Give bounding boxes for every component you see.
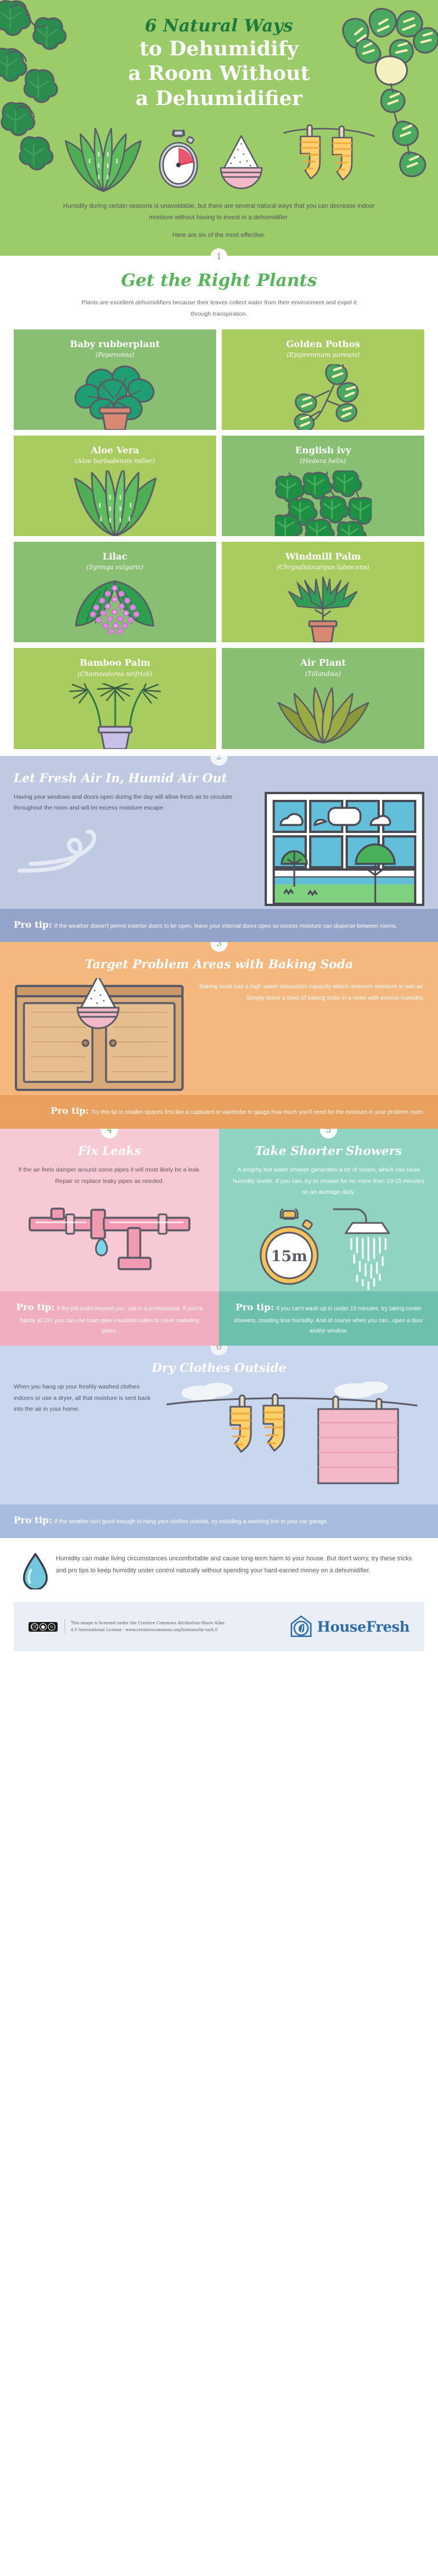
washing-line-illustration	[167, 1382, 424, 1504]
plant-sci-name: (Aloe barbadensis miller)	[18, 457, 212, 465]
plant-sci-name: (Hedera helix)	[226, 457, 420, 465]
hero-section: 6 Natural Ways to Dehumidify a Room With…	[0, 0, 438, 256]
pothos-vine-art	[222, 364, 424, 430]
plant-label: English ivy (Hedera helix)	[222, 436, 424, 470]
hero-intro: Humidity during certain seasons is unavo…	[0, 192, 438, 243]
section4-body: If the air feels damper around some pipe…	[11, 1165, 208, 1187]
section-fix-leaks: 4 Fix Leaks If the air feels damper arou…	[0, 1129, 219, 1346]
license-line-2: 4.0 International License - www.creative…	[71, 1627, 225, 1633]
plant-label: Golden Pothos (Epipremnum aureum)	[222, 329, 424, 364]
plant-label: Lilac (Syringa vulgaris)	[14, 542, 216, 577]
step-badge-1: 1	[210, 248, 228, 265]
section2-heading: Let Fresh Air In, Humid Air Out	[14, 771, 424, 785]
section5-body: A lengthy hot water shower generates a l…	[230, 1165, 427, 1198]
plant-card[interactable]: Bamboo Palm (Chamaedorea seifrizii)	[14, 648, 216, 748]
hero-title-line4: a Dehumidifier	[0, 87, 438, 110]
peperomia-plant-art	[14, 364, 216, 430]
hero-intro-paragraph-2: Here are six of the most effective.	[52, 230, 386, 241]
section6-protip: Pro tip:If the weather isn't good enough…	[0, 1504, 438, 1538]
hero-intro-paragraph-1: Humidity during certain seasons is unavo…	[52, 200, 386, 224]
timer-label: 15m	[271, 1248, 307, 1265]
license-block: CC ● ↻ This image is licensed under the …	[29, 1620, 225, 1634]
aloe-plant-art	[14, 470, 216, 536]
section6-content: Dry Clothes Outside When you hang up you…	[0, 1346, 438, 1504]
plant-card[interactable]: Air Plant (Tillandsia)	[222, 648, 424, 748]
protip-lead: Pro tip:	[51, 1105, 89, 1116]
license-line-1: This image is licensed under the Creativ…	[71, 1620, 225, 1627]
shower-timer-illustration: 15m	[230, 1206, 427, 1291]
section-dry-clothes: 6 Dry Clothes Outside When you hang up y…	[0, 1346, 438, 1538]
hero-title-line2: to Dehumidify	[0, 37, 438, 61]
protip-lead: Pro tip:	[236, 1302, 274, 1313]
stopwatch-icon	[158, 130, 199, 192]
hanging-socks-icon	[283, 124, 375, 192]
plant-card[interactable]: Golden Pothos (Epipremnum aureum)	[222, 329, 424, 430]
plant-card[interactable]: Windmill Palm (Chrysalidocarpus lutescen…	[222, 542, 424, 642]
leaky-pipe-illustration	[11, 1197, 208, 1274]
window-illustration	[265, 792, 424, 909]
creative-commons-badge-icon: CC ● ↻	[29, 1622, 58, 1632]
cc-by-icon: ●	[39, 1623, 47, 1631]
hero-title-line3: a Room Without	[0, 62, 438, 85]
cc-sa-icon: ↻	[48, 1623, 55, 1631]
plant-sci-name: (Chrysalidocarpus lutescens)	[226, 563, 420, 571]
section2-content: Let Fresh Air In, Humid Air Out Having y…	[0, 756, 438, 909]
plant-label: Bamboo Palm (Chamaedorea seifrizii)	[14, 648, 216, 683]
plant-label: Aloe Vera (Aloe barbadensis miller)	[14, 436, 216, 470]
baking-soda-bowl-icon	[214, 132, 269, 192]
plant-sci-name: (Peperomia)	[18, 351, 212, 359]
section2-protip: Pro tip:If the weather doesn't permit ex…	[0, 909, 438, 943]
bamboo-palm-art	[14, 683, 216, 749]
section2-body: Having your windows and doors open durin…	[14, 792, 254, 814]
section-shorter-showers: 5 Take Shorter Showers A lengthy hot wat…	[219, 1129, 438, 1346]
cc-mark: CC	[31, 1623, 38, 1631]
footer: CC ● ↻ This image is licensed under the …	[14, 1602, 424, 1651]
section-baking-soda: 3 Target Problem Areas with Baking Soda	[0, 942, 438, 1129]
plant-label: Baby rubberplant (Peperomia)	[14, 329, 216, 364]
airflow-swirl-icon	[14, 828, 122, 880]
plant-name: Lilac	[18, 551, 212, 562]
plant-name: Aloe Vera	[18, 445, 212, 456]
conclusion-section: Humidity can make living circumstances u…	[0, 1538, 438, 1602]
section4-protip: Pro tip:If the job looks beyond you, cal…	[0, 1291, 219, 1346]
section3-protip: Pro tip:Try this tip in smaller spaces f…	[0, 1095, 438, 1129]
windmill-palm-art	[222, 577, 424, 642]
section5-heading: Take Shorter Showers	[230, 1144, 427, 1158]
plant-sci-name: (Tillandsia)	[226, 670, 420, 678]
section3-body: Baking soda has a high water absorption …	[195, 981, 424, 1004]
section-get-plants: 1 Get the Right Plants Plants are excell…	[0, 256, 438, 756]
section6-heading: Dry Clothes Outside	[14, 1361, 424, 1375]
hero-title-line1: 6 Natural Ways	[0, 16, 438, 36]
house-leaf-logo-icon	[289, 1615, 313, 1639]
lilac-flower-art	[14, 577, 216, 642]
plant-card[interactable]: English ivy (Hedera helix)	[222, 436, 424, 536]
ivy-leaves-art	[222, 470, 424, 536]
sections-4-5-row: 4 Fix Leaks If the air feels damper arou…	[0, 1129, 438, 1346]
protip-text: If the weather isn't good enough to hang…	[54, 1519, 328, 1525]
plant-name: Air Plant	[226, 657, 420, 668]
conclusion-text: Humidity can make living circumstances u…	[56, 1553, 415, 1577]
cupboard-illustration	[14, 978, 185, 1095]
plant-name: English ivy	[226, 445, 420, 456]
aloe-icon	[63, 124, 143, 192]
protip-lead: Pro tip:	[14, 919, 52, 930]
infographic-page: 6 Natural Ways to Dehumidify a Room With…	[0, 0, 438, 1651]
protip-lead: Pro tip:	[14, 1515, 52, 1526]
protip-text: If the weather doesn't permit exterior d…	[54, 923, 398, 929]
hero-icon-row	[0, 118, 438, 192]
plant-grid: Baby rubberplant (Peperomia)	[0, 329, 438, 749]
plant-card[interactable]: Lilac (Syringa vulgaris)	[14, 542, 216, 642]
section5-protip: Pro tip:If you can't wash up in under 15…	[219, 1291, 438, 1346]
plant-sci-name: (Chamaedorea seifrizii)	[18, 670, 212, 678]
section3-content: Target Problem Areas with Baking Soda	[0, 942, 438, 1095]
plant-sci-name: (Epipremnum aureum)	[226, 351, 420, 359]
plant-sci-name: (Syringa vulgaris)	[18, 563, 212, 571]
plant-name: Baby rubberplant	[18, 339, 212, 349]
brand-name: HouseFresh	[317, 1619, 409, 1635]
section-fresh-air: 2 Let Fresh Air In, Humid Air Out Having…	[0, 756, 438, 943]
plant-name: Bamboo Palm	[18, 657, 212, 668]
protip-lead: Pro tip:	[16, 1302, 54, 1313]
brand-logo[interactable]: HouseFresh	[289, 1615, 409, 1639]
hero-title: 6 Natural Ways to Dehumidify a Room With…	[0, 16, 438, 110]
protip-text: Try this tip in smaller spaces first lik…	[91, 1109, 424, 1116]
water-droplet-icon	[23, 1553, 48, 1589]
plant-label: Air Plant (Tillandsia)	[222, 648, 424, 683]
plant-label: Windmill Palm (Chrysalidocarpus lutescen…	[222, 542, 424, 577]
plant-name: Windmill Palm	[226, 551, 420, 562]
shower-stopwatch-icon: 15m	[255, 1209, 324, 1289]
section3-heading: Target Problem Areas with Baking Soda	[14, 957, 424, 971]
shower-head-icon	[327, 1206, 401, 1291]
section4-heading: Fix Leaks	[11, 1144, 208, 1158]
license-text: This image is licensed under the Creativ…	[64, 1620, 225, 1634]
section1-subtext: Plants are excellent dehumidifiers becau…	[0, 297, 438, 329]
plant-name: Golden Pothos	[226, 339, 420, 349]
air-plant-art	[222, 683, 424, 749]
section6-body: When you hang up your freshly washed clo…	[14, 1382, 156, 1415]
plant-card[interactable]: Aloe Vera (Aloe barbadensis miller)	[14, 436, 216, 536]
section1-heading: Get the Right Plants	[0, 271, 438, 291]
plant-card[interactable]: Baby rubberplant (Peperomia)	[14, 329, 216, 430]
